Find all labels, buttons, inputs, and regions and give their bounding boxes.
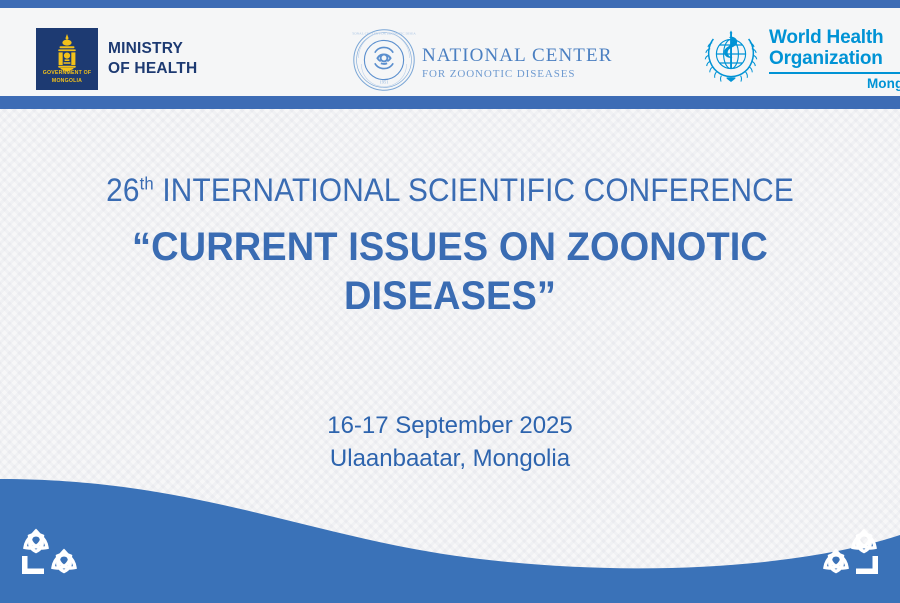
header-bottom-accent-strip — [0, 96, 900, 109]
conference-label: INTERNATIONAL SCIENTIFIC CONFERENCE — [162, 172, 794, 208]
ministry-name-line1: MINISTRY — [108, 39, 197, 59]
conference-theme-line1: “CURRENT ISSUES ON ZOONOTIC — [23, 223, 878, 272]
bottom-wave-decoration — [0, 443, 900, 603]
ulzii-knot-ornament-left — [14, 522, 94, 589]
nczd-seal-icon: NATIONAL CENTER FOR ZOONOTIC DISEASES — [352, 28, 416, 97]
mongolia-state-emblem-icon: GOVERNMENT OF MONGOLIA — [36, 28, 98, 90]
logo-ministry-of-health: GOVERNMENT OF MONGOLIA MINISTRY OF HEALT… — [36, 28, 197, 90]
emblem-caption-line1: GOVERNMENT OF — [36, 70, 98, 76]
who-divider-rule — [769, 72, 900, 74]
who-name-line2: Organization — [769, 49, 900, 69]
event-dates: 16-17 September 2025 — [0, 409, 900, 442]
who-country-label: Mongolia — [769, 76, 900, 91]
conference-theme: “CURRENT ISSUES ON ZOONOTIC DISEASES” — [23, 223, 878, 321]
nczd-name: NATIONAL CENTER FOR ZOONOTIC DISEASES — [422, 44, 612, 82]
conference-title-slide: GOVERNMENT OF MONGOLIA MINISTRY OF HEALT… — [0, 0, 900, 603]
conference-theme-line2: DISEASES” — [23, 272, 878, 321]
logo-national-center-zoonotic-diseases: NATIONAL CENTER FOR ZOONOTIC DISEASES — [352, 28, 612, 97]
conference-subtitle-line: 26th INTERNATIONAL SCIENTIFIC CONFERENCE — [32, 172, 869, 209]
who-name-line1: World Health — [769, 28, 900, 48]
ministry-name-line2: OF HEALTH — [108, 59, 197, 79]
nczd-name-line1: NATIONAL CENTER — [422, 44, 612, 68]
nczd-name-line2: FOR ZOONOTIC DISEASES — [422, 68, 612, 82]
title-block: 26th INTERNATIONAL SCIENTIFIC CONFERENCE… — [0, 172, 900, 321]
ulzii-corner-bracket-right — [856, 556, 878, 574]
svg-text:NATIONAL CENTER FOR ZOONOTIC D: NATIONAL CENTER FOR ZOONOTIC DISEASES — [352, 32, 416, 36]
header-logo-band: GOVERNMENT OF MONGOLIA MINISTRY OF HEALT… — [0, 8, 900, 96]
ulzii-corner-bracket-left — [22, 556, 44, 574]
ulzii-knot-ornament-right — [806, 522, 886, 589]
conference-number-suffix: th — [140, 173, 154, 193]
top-accent-strip — [0, 0, 900, 8]
ministry-of-health-name: MINISTRY OF HEALTH — [108, 39, 197, 80]
emblem-caption-line2: MONGOLIA — [36, 78, 98, 84]
logo-world-health-organization: World Health Organization Mongolia — [700, 26, 900, 93]
wave-blue-shape — [0, 479, 900, 603]
svg-text:1951: 1951 — [380, 79, 389, 84]
who-name: World Health Organization Mongolia — [769, 28, 900, 90]
conference-number: 26 — [106, 172, 139, 208]
who-emblem-icon — [700, 26, 762, 93]
